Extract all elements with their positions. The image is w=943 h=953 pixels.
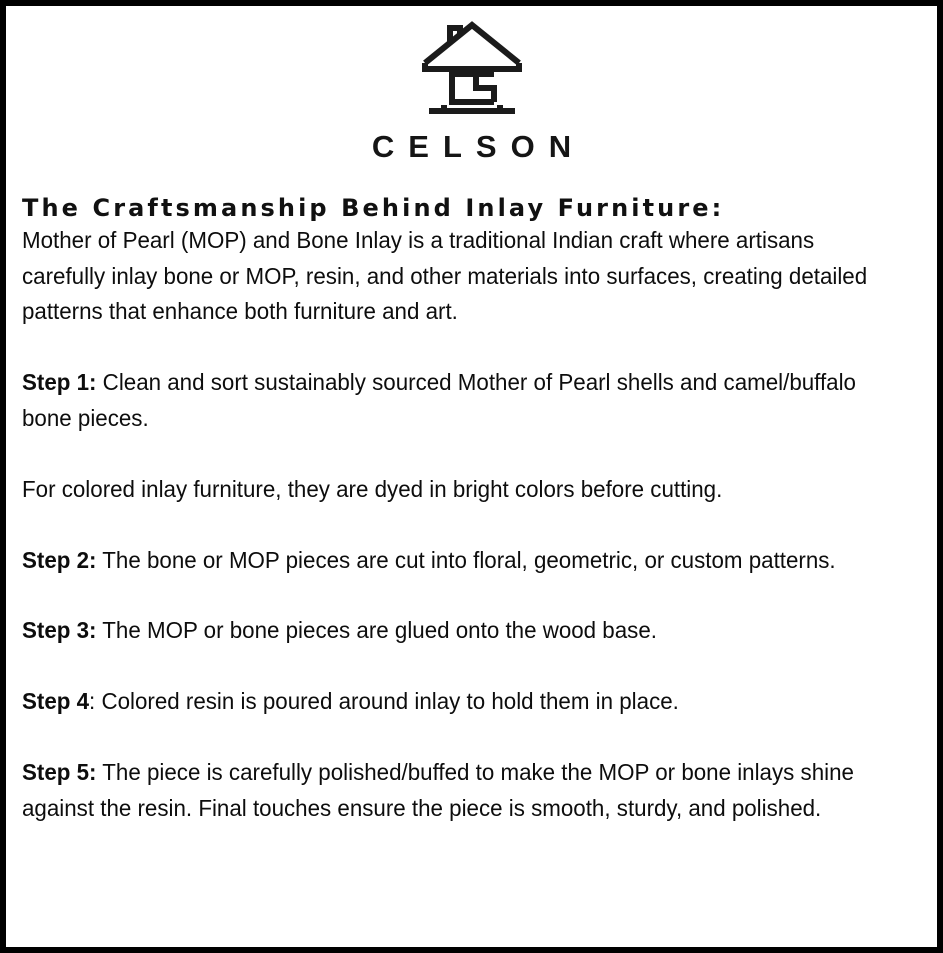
paragraph-colored-inlay-note: For colored inlay furniture, they are dy… — [22, 472, 868, 508]
paragraph-step-4: Step 4: Colored resin is poured around i… — [22, 684, 868, 720]
house-monogram-logo-icon — [420, 16, 524, 117]
paragraph-lead: Step 4 — [22, 688, 89, 714]
paragraph-text: The bone or MOP pieces are cut into flor… — [102, 547, 835, 573]
brand-block: CELSON — [16, 10, 927, 162]
paragraph-lead-separator: : — [89, 688, 101, 714]
paragraph-step-3: Step 3: The MOP or bone pieces are glued… — [22, 613, 868, 649]
body-copy: Mother of Pearl (MOP) and Bone Inlay is … — [22, 223, 868, 827]
paragraph-text: For colored inlay furniture, they are dy… — [22, 476, 722, 502]
paragraph-step-2: Step 2: The bone or MOP pieces are cut i… — [22, 543, 868, 579]
paragraph-lead: Step 2: — [22, 547, 96, 573]
paragraph-step-1: Step 1: Clean and sort sustainably sourc… — [22, 365, 868, 437]
paragraph-text: The MOP or bone pieces are glued onto th… — [102, 617, 657, 643]
paragraph-intro: Mother of Pearl (MOP) and Bone Inlay is … — [22, 223, 868, 330]
paragraph-step-5: Step 5: The piece is carefully polished/… — [22, 755, 868, 827]
paragraph-lead: Step 5: — [22, 759, 96, 785]
paragraph-lead: Step 1: — [22, 369, 96, 395]
paragraph-text: Colored resin is poured around inlay to … — [101, 688, 678, 714]
page-title: The Craftsmanship Behind Inlay Furniture… — [22, 194, 927, 223]
poster-content: CELSON The Craftsmanship Behind Inlay Fu… — [6, 6, 937, 947]
paragraph-text: Clean and sort sustainably sourced Mothe… — [22, 369, 856, 431]
paragraph-text: Mother of Pearl (MOP) and Bone Inlay is … — [22, 227, 867, 325]
paragraph-text: The piece is carefully polished/buffed t… — [22, 759, 854, 821]
brand-wordmark: CELSON — [16, 131, 927, 162]
paragraph-lead: Step 3: — [22, 617, 96, 643]
poster-card: CELSON The Craftsmanship Behind Inlay Fu… — [0, 0, 943, 953]
